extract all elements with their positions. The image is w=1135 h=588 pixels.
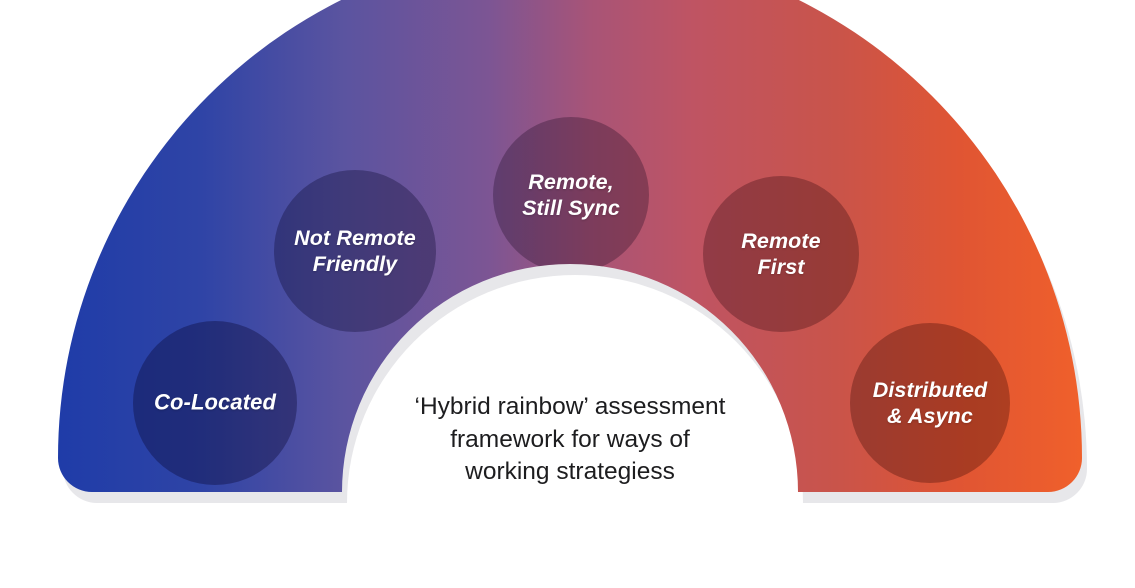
node-circle-distributed-async[interactable] — [850, 323, 1010, 483]
node-circle-co-located[interactable] — [133, 321, 297, 485]
node-circle-remote-still-sync[interactable] — [493, 117, 649, 273]
node-circle-not-remote-friendly[interactable] — [274, 170, 436, 332]
center-caption: ‘Hybrid rainbow’ assessment framework fo… — [415, 391, 726, 489]
diagram-canvas: Co-Located Not Remote Friendly Remote, S… — [0, 0, 1135, 588]
rainbow-arc-graphic — [0, 0, 1135, 588]
node-circle-remote-first[interactable] — [703, 176, 859, 332]
